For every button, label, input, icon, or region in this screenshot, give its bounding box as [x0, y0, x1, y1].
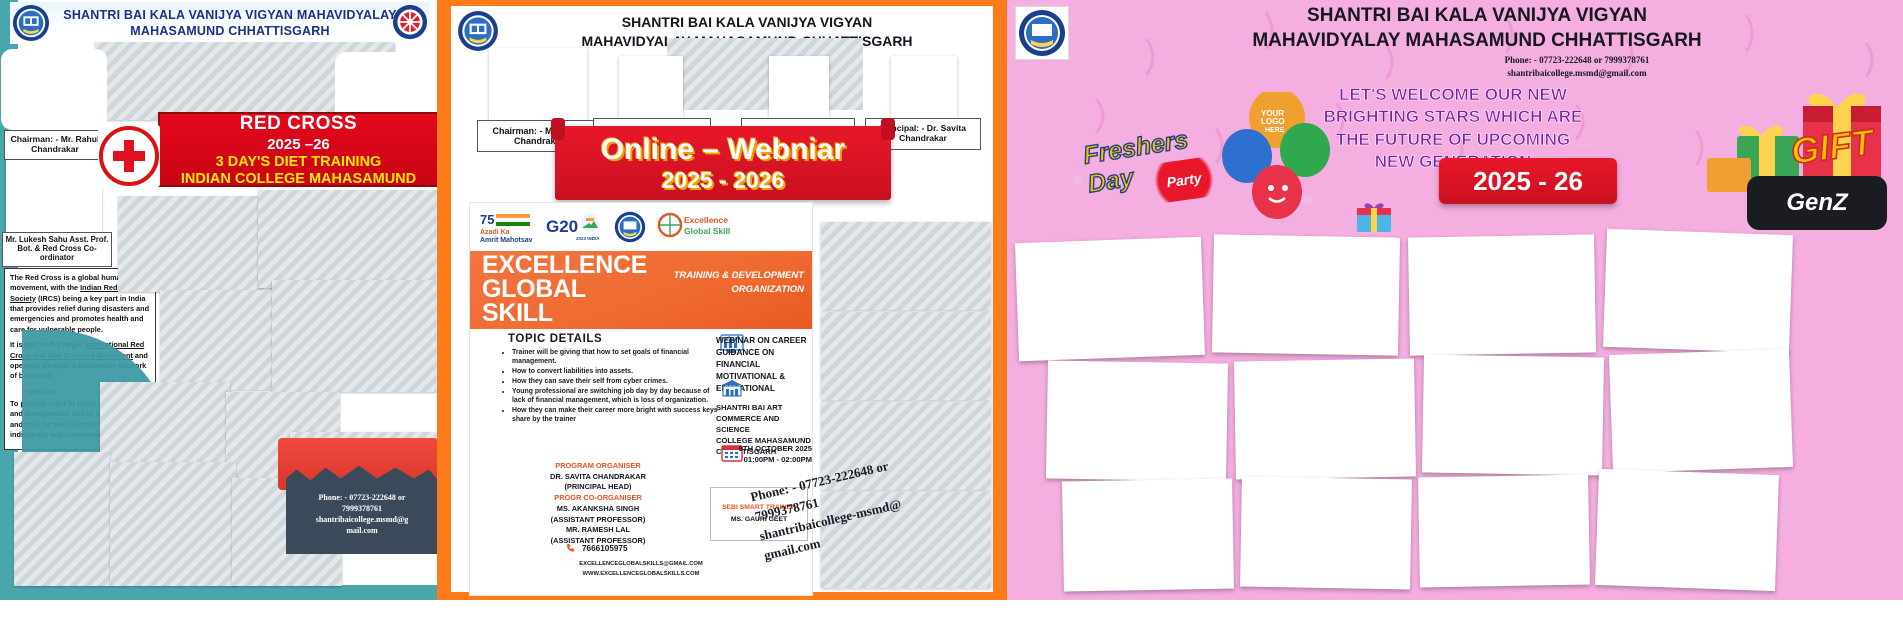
- flyer-phone-number: 7666105975: [582, 544, 628, 553]
- organiser-name: DR. SAVITA CHANDRAKAR: [490, 472, 706, 483]
- tagline-line-1: TRAINING & DEVELOPMENT: [674, 269, 804, 283]
- faculty-photo-akansha: [619, 56, 683, 118]
- azadi-ka-amrit-mahotsav-icon: 75 Azadi Ka Amrit Mahotsav: [480, 210, 536, 244]
- freshers-event-photo: [1418, 475, 1590, 588]
- flyer-phone: 7666105975: [566, 543, 716, 554]
- banner-line-1: RED CROSS: [240, 113, 357, 135]
- panel-freshers-day-poster: SHANTRI BAI KALA VANIJYA VIGYAN MAHAVIDY…: [1007, 0, 1903, 600]
- svg-text:Excellence: Excellence: [684, 215, 728, 225]
- phone-icon: [566, 543, 577, 554]
- banner-line-3: 3 DAY'S DIET TRAINING: [216, 154, 382, 170]
- year-badge: 2025 - 26: [1439, 158, 1617, 204]
- title-line-1: SHANTRI BAI KALA VANIJYA VIGYAN MAHAVIDY…: [63, 8, 396, 24]
- event-photo: [160, 290, 278, 390]
- event-photo: [100, 382, 230, 472]
- flyer-brand-band: EXCELLENCE GLOBAL SKILL TRAINING & DEVEL…: [470, 251, 812, 329]
- contact-email-line-1: shantribaicollege.msmd@g: [316, 515, 409, 526]
- chairman-photo: [4, 52, 104, 127]
- bottom-teal-stripe: [0, 585, 437, 600]
- event-photo: [272, 280, 438, 392]
- organiser-block: PROGRAM ORGANISER DR. SAVITA CHANDRAKAR …: [490, 461, 706, 547]
- college-crest-icon: [457, 10, 499, 52]
- freshers-event-photo: [1240, 477, 1412, 590]
- flyer-brand: EXCELLENCE GLOBAL SKILL: [482, 253, 647, 325]
- freshers-event-photo: [1015, 237, 1205, 361]
- red-cross-banner: RED CROSS 2025 –26 3 DAY'S DIET TRAINING…: [158, 112, 439, 187]
- flyer-website: WWW.EXCELLENCEGLOBALSKILLS.COM: [490, 569, 792, 579]
- banner-line-2: 2025 –26: [267, 136, 330, 153]
- banner-line-4: INDIAN COLLEGE MAHASAMUND: [181, 171, 416, 187]
- title-line-2: MAHASAMUND CHHATTISGARH: [130, 24, 330, 40]
- svg-text:Azadi Ka: Azadi Ka: [480, 229, 510, 236]
- poster-collage-screenshot: SHANTRI BAI KALA VANIJYA VIGYAN MAHAVIDY…: [0, 0, 1903, 600]
- freshers-event-photo: [1046, 360, 1228, 481]
- svg-text:HERE: HERE: [1265, 127, 1285, 134]
- principal-photo: [891, 56, 957, 118]
- pin-right-icon: [881, 118, 895, 140]
- event-photo: [110, 462, 236, 586]
- organiser-label: PROGRAM ORGANISER: [490, 461, 706, 472]
- contact-email-line-2: mail.com: [346, 526, 377, 537]
- co-organiser-label: PROGR CO-ORGANISER: [490, 493, 706, 504]
- topic-bullet-list: Trainer will be giving that how to set g…: [496, 349, 722, 426]
- brand-line-1: EXCELLENCE: [482, 253, 647, 277]
- svg-text:2023 INDIA: 2023 INDIA: [576, 236, 600, 241]
- freshers-event-photo: [1422, 354, 1604, 475]
- tagline-line-2: ORGANIZATION: [674, 283, 804, 297]
- chairman-photo: [489, 48, 587, 120]
- coordinator-caption: Mr. Lukesh Sahu Asst. Prof. Bot. & Red C…: [2, 232, 112, 267]
- page-title: SHANTRI BAI KALA VANIJYA VIGYAN MAHAVIDY…: [1077, 4, 1877, 54]
- genz-badge: GenZ: [1747, 176, 1887, 230]
- excellence-global-skill-icon: Excellence Global Skill: [656, 210, 730, 244]
- list-item: How to convert liabilities into assets.: [512, 368, 722, 377]
- flyer-email: EXCELLENCEGLOBALSKILLS@GMAIL.COM: [490, 559, 792, 569]
- organiser-role: (PRINCIPAL HEAD): [490, 482, 706, 493]
- flyer-footer: EXCELLENCEGLOBALSKILLS@GMAIL.COM WWW.EXC…: [490, 559, 792, 579]
- welcome-line-2: BRIGHTING STARS WHICH ARE: [1293, 106, 1613, 128]
- coordinator-photo: [6, 160, 102, 232]
- list-item: Trainer will be giving that how to set g…: [512, 349, 722, 367]
- title-line-1: SHANTRI BAI KALA VANIJYA VIGYAN: [622, 13, 872, 32]
- panel-red-cross-poster: SHANTRI BAI KALA VANIJYA VIGYAN MAHAVIDY…: [0, 0, 437, 600]
- header-phone: Phone: - 07723-222648 or 7999378761: [1327, 54, 1827, 67]
- webinar-line-3: FINANCIAL: [716, 359, 812, 371]
- flyer-tagline: TRAINING & DEVELOPMENT ORGANIZATION: [674, 269, 804, 298]
- page-title: SHANTRI BAI KALA VANIJYA VIGYAN MAHAVIDY…: [50, 4, 410, 44]
- welcome-line-3: THE FUTURE OF UPCOMING: [1293, 129, 1613, 151]
- panel-online-webinar-poster: SHANTRI BAI KALA VANIJYA VIGYAN MAHAVIDY…: [437, 0, 1007, 600]
- freshers-event-photo: [1603, 229, 1793, 353]
- poster-canvas: SHANTRI BAI KALA VANIJYA VIGYAN MAHAVIDY…: [451, 6, 993, 592]
- contact-phone-alt: 7999378761: [342, 504, 382, 515]
- co-organiser-name-2: MR. RAMESH LAL: [490, 525, 706, 536]
- event-photo: [14, 452, 110, 586]
- event-photo: [821, 222, 991, 310]
- svg-text:Global Skill: Global Skill: [684, 226, 730, 236]
- webinar-line-2: GUIDANCE ON: [716, 347, 812, 359]
- freshers-event-photo: [1212, 234, 1400, 355]
- list-item: Young professional are switching job day…: [512, 388, 722, 406]
- college-building-icon: [720, 379, 744, 399]
- title-line-2: MAHAVIDYALAY MAHASAMUND CHHATTISGARH: [1252, 29, 1701, 54]
- freshers-event-photo: [1062, 479, 1234, 592]
- college-crest-icon: [1015, 6, 1069, 60]
- svg-text:75: 75: [480, 212, 494, 227]
- contact-phone-line: Phone: - 07723-222648 or: [319, 493, 406, 504]
- webinar-time: 01:00PM - 02:00PM: [720, 454, 812, 465]
- college-building-photo: [667, 38, 863, 110]
- flyer-logo-row: 75 Azadi Ka Amrit Mahotsav G20 2023 INDI…: [470, 203, 812, 251]
- topic-details-heading: TOPIC DETAILS: [508, 333, 708, 345]
- freshers-event-photo: [1408, 234, 1596, 355]
- event-photo: [118, 196, 278, 292]
- indian-red-cross-society-icon: [98, 125, 160, 187]
- welcome-line-1: LET'S WELCOME OUR NEW: [1293, 84, 1613, 106]
- venue-line-1: SHANTRI BAI ART: [716, 402, 812, 413]
- banner-line-1: Online – Webniar: [601, 133, 846, 167]
- co-organiser-name-1: MS. AKANKSHA SINGH: [490, 504, 706, 515]
- freshers-event-photo: [1609, 349, 1793, 473]
- event-photo: [258, 190, 438, 288]
- brand-line-2: GLOBAL: [482, 277, 647, 301]
- svg-text:Amrit Mahotsav: Amrit Mahotsav: [480, 237, 533, 244]
- faculty-photo-resham: [769, 56, 829, 118]
- banner-line-2: 2025 - 2026: [662, 167, 785, 194]
- brand-line-3: SKILL: [482, 301, 647, 325]
- college-crest-icon: [12, 4, 50, 42]
- chairman-caption: Chairman: - Mr. Rahul Chandrakar: [4, 130, 106, 160]
- venue-line-2: COMMERCE AND SCIENCE: [716, 413, 812, 435]
- title-line-1: SHANTRI BAI KALA VANIJYA VIGYAN: [1307, 4, 1647, 29]
- freshers-event-photo: [1595, 469, 1779, 591]
- list-item: How they can save their self from cyber …: [512, 378, 722, 387]
- college-crest-icon: [614, 211, 646, 243]
- webinar-datetime: 9TH OCTOBER 2025 01:00PM - 02:00PM: [720, 443, 812, 466]
- webinar-line-1: WEBINAR ON CAREER: [716, 335, 812, 347]
- webinar-date: 9TH OCTOBER 2025: [720, 443, 812, 454]
- pin-left-icon: [551, 118, 565, 140]
- list-item: How they can make their career more brig…: [512, 407, 722, 425]
- co-organiser-role-1: (ASSISTANT PROFESSOR): [490, 515, 706, 526]
- event-photo: [821, 312, 991, 400]
- svg-text:G20: G20: [546, 217, 578, 236]
- webinar-banner: Online – Webniar 2025 - 2026: [555, 126, 891, 200]
- freshers-event-photo: [1234, 358, 1416, 479]
- g20-india-icon: G20 2023 INDIA: [546, 212, 604, 242]
- gift-box-small-icon: [1347, 196, 1437, 236]
- svg-text:LOGO: LOGO: [1261, 117, 1285, 126]
